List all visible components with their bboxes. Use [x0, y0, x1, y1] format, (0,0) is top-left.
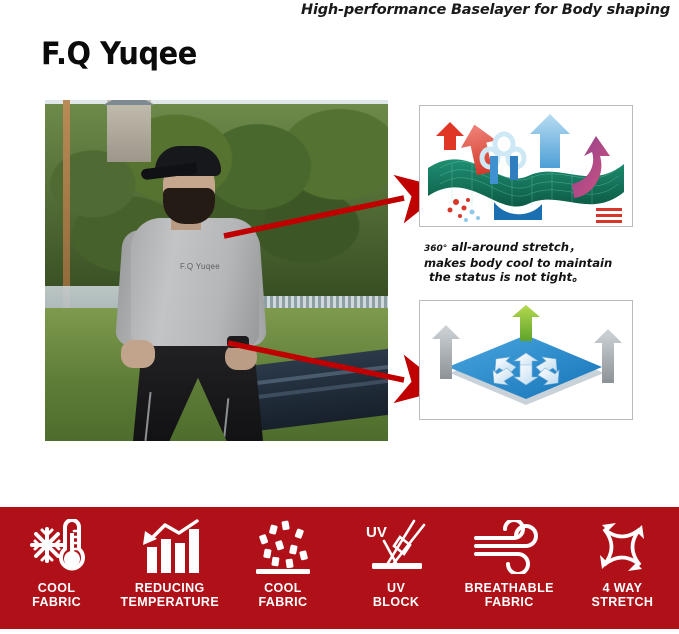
feature-label-line2: FABRIC [32, 595, 81, 609]
caption-line-2: makes body cool to maintain [424, 256, 654, 271]
stretch-fabric-illustration [420, 106, 632, 226]
photo-tower [107, 100, 151, 162]
feature-cool-fabric-2[interactable]: COOL FABRIC [226, 507, 339, 629]
feature-breathable-fabric[interactable]: BREATHABLE FABRIC [453, 507, 566, 629]
feature-label-line1: BREATHABLE [465, 581, 554, 595]
feature-label: COOL FABRIC [258, 581, 307, 609]
feature-uv-block[interactable]: UV UV BLOCK [340, 507, 453, 629]
stretch-diagram-panel [419, 105, 633, 227]
feature-label: COOL FABRIC [32, 581, 81, 609]
feature-label: REDUCING TEMPERATURE [120, 581, 219, 609]
model-left-hand [121, 340, 155, 368]
feature-label-line2: FABRIC [465, 595, 554, 609]
model-beard [163, 188, 215, 224]
feature-label: UV BLOCK [373, 581, 419, 609]
feature-label: BREATHABLE FABRIC [465, 581, 554, 609]
uv-ray-block-icon: UV [364, 517, 428, 577]
uv-icon-text: UV [366, 524, 387, 541]
caption-line-3: the status is not tight。 [424, 270, 654, 285]
feature-reducing-temperature[interactable]: REDUCING TEMPERATURE [113, 507, 226, 629]
snowflake-thermometer-icon [27, 517, 87, 577]
model-torso-baselayer [131, 218, 259, 346]
feature-label-line1: 4 WAY [592, 581, 654, 595]
feature-4-way-stretch[interactable]: 4 WAY STRETCH [566, 507, 679, 629]
model-watch [227, 336, 249, 348]
wind-swirl-icon [474, 517, 544, 577]
product-photo: F.Q Yuqee [45, 100, 388, 441]
feature-bar: COOL FABRIC REDUCING TEMPERATURE [0, 507, 679, 629]
feature-label-line1: COOL [32, 581, 81, 595]
breathe-diagram-panel [419, 300, 633, 420]
feature-label: 4 WAY STRETCH [592, 581, 654, 609]
tagline: High-performance Baselayer for Body shap… [270, 2, 670, 18]
feature-label-line1: UV [373, 581, 419, 595]
brand-title: F.Q Yuqee [41, 36, 197, 72]
evaporating-particles-icon [254, 517, 312, 577]
photo-pole [63, 100, 70, 315]
caption-degree: 360° [424, 244, 447, 254]
caption-line-1: all-around stretch， [447, 240, 580, 254]
stretch-caption: 360° all-around stretch， makes body cool… [424, 240, 654, 285]
feature-label-line2: TEMPERATURE [120, 595, 219, 609]
chest-logo: F.Q Yuqee [155, 262, 245, 271]
bar-chart-down-arrow-icon [139, 517, 201, 577]
feature-label-line1: REDUCING [120, 581, 219, 595]
four-way-stretch-illustration [420, 301, 632, 419]
feature-label-line2: STRETCH [592, 595, 654, 609]
feature-label-line1: COOL [258, 581, 307, 595]
feature-label-line2: BLOCK [373, 595, 419, 609]
feature-label-line2: FABRIC [258, 595, 307, 609]
four-way-arrows-icon [590, 517, 654, 577]
feature-cool-fabric-1[interactable]: COOL FABRIC [0, 507, 113, 629]
